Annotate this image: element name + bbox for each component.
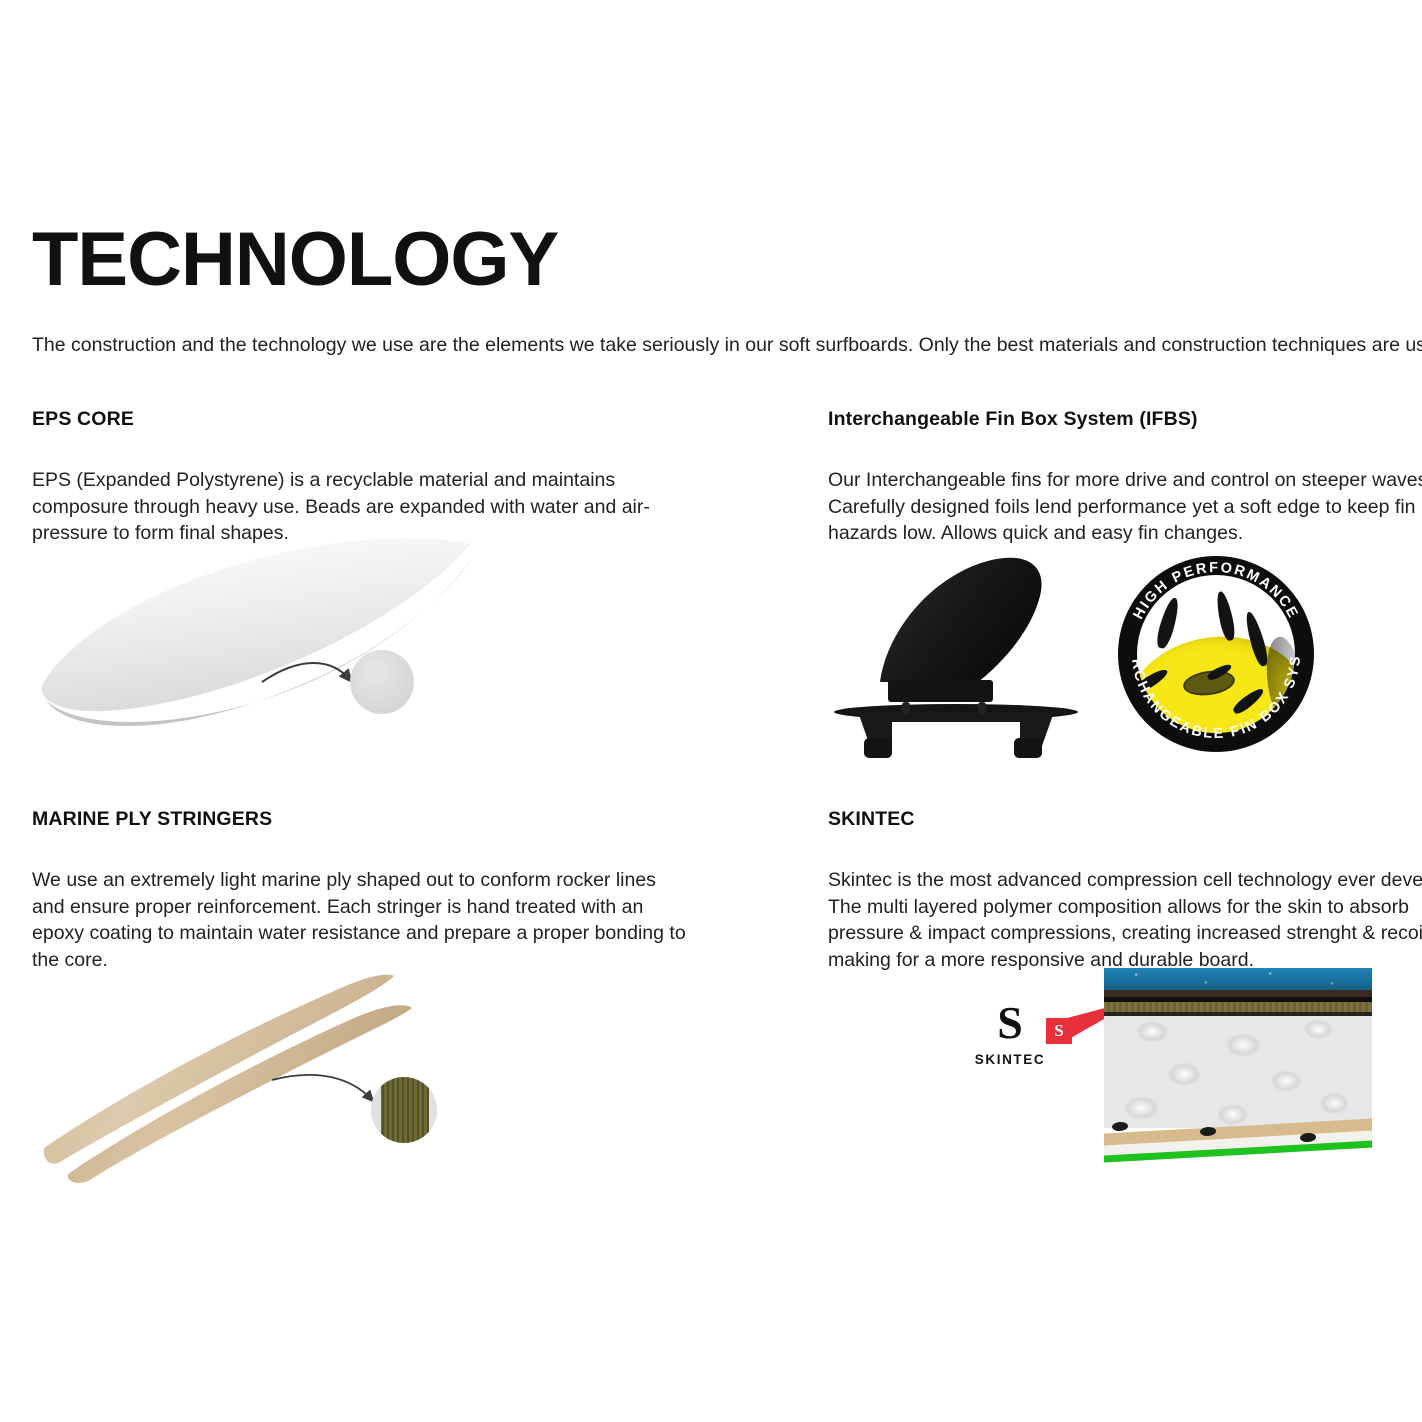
fin-blade (880, 558, 1042, 682)
eps-core-svg (32, 530, 492, 760)
section-title-skintec: SKINTEC (828, 808, 1422, 831)
technology-feature-grid: EPS CORE EPS (Expanded Polystyrene) is a… (0, 408, 1422, 1228)
marine-ply-stringers-illustration (32, 958, 472, 1188)
skintec-cross-section-illustration: S SKINTEC S (958, 968, 1378, 1183)
section-marine-ply-stringers: MARINE PLY STRINGERS We use an extremely… (32, 808, 692, 974)
skintec-logo: S SKINTEC (968, 1000, 1052, 1067)
section-body-ifbs: Our Interchangeable fins for more drive … (828, 467, 1422, 547)
skintec-pointer-badge: S (1046, 1018, 1072, 1044)
fin-svg (828, 550, 1098, 765)
eps-core-blank-illustration (32, 530, 492, 760)
stringer-upper (44, 975, 394, 1164)
fin-box-leg-left (864, 738, 892, 758)
badge-arc-text: HIGH PERFORMANCE INTERCHANGEABLE FIN BOX… (1118, 556, 1314, 752)
section-skintec: SKINTEC Skintec is the most advanced com… (828, 808, 1422, 974)
callout-arrow-icon (272, 1075, 372, 1100)
skintec-logo-label: SKINTEC (968, 1052, 1052, 1067)
page-header: TECHNOLOGY The construction and the tech… (32, 222, 1392, 358)
wood-grain-detail (371, 1077, 441, 1143)
fin-box-screw-left (902, 702, 910, 714)
layer-eps-core (1104, 1016, 1372, 1128)
section-title-eps-core: EPS CORE (32, 408, 692, 431)
section-title-marine-ply: MARINE PLY STRINGERS (32, 808, 692, 831)
layer-weave (1104, 1002, 1372, 1012)
feature-row-1: EPS CORE EPS (Expanded Polystyrene) is a… (0, 408, 1422, 808)
section-eps-core: EPS CORE EPS (Expanded Polystyrene) is a… (32, 408, 692, 547)
fin-tab (888, 680, 993, 702)
badge-top-arc-label: HIGH PERFORMANCE (1131, 560, 1302, 622)
layer-bottom-marker-1 (1112, 1121, 1129, 1131)
fin-box-screw-right (978, 702, 986, 714)
stringers-svg (32, 958, 472, 1188)
fin-and-fin-box-illustration (828, 550, 1098, 765)
technology-page: TECHNOLOGY The construction and the tech… (0, 0, 1422, 1422)
layer-polymer-1 (1104, 990, 1372, 997)
section-ifbs: Interchangeable Fin Box System (IFBS) Ou… (828, 408, 1422, 547)
fin-box-leg-right (1014, 738, 1042, 758)
skintec-layer-stack (1104, 968, 1372, 1173)
page-intro: The construction and the technology we u… (32, 332, 1392, 358)
badge-ring: HIGH PERFORMANCE INTERCHANGEABLE FIN BOX… (1118, 556, 1314, 752)
feature-row-2: MARINE PLY STRINGERS We use an extremely… (0, 808, 1422, 1228)
detail-zoom-circle (350, 650, 414, 714)
ifbs-high-performance-badge: HIGH PERFORMANCE INTERCHANGEABLE FIN BOX… (1118, 556, 1318, 756)
layer-bottom-group (1104, 1118, 1372, 1173)
section-body-skintec: Skintec is the most advanced compression… (828, 867, 1422, 974)
layer-deck-skin (1104, 968, 1372, 990)
stringer-lower (68, 1005, 412, 1183)
skintec-s-mark-icon: S (968, 1000, 1052, 1046)
page-title: TECHNOLOGY (32, 222, 1392, 298)
section-title-ifbs: Interchangeable Fin Box System (IFBS) (828, 408, 1422, 431)
